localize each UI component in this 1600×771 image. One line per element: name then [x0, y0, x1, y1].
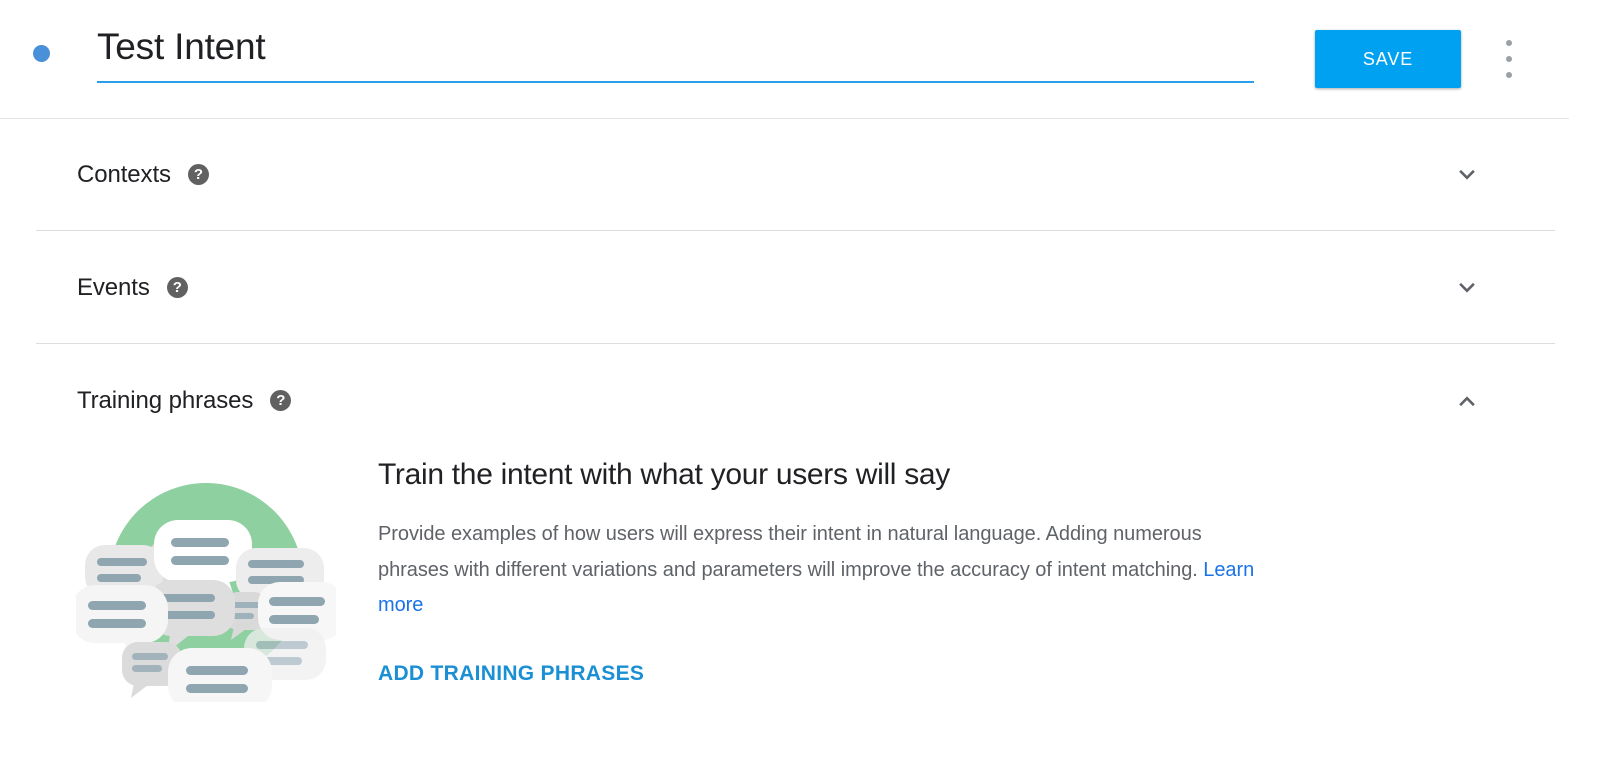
chevron-down-icon[interactable]: [1449, 157, 1485, 193]
more-options-icon[interactable]: [1498, 40, 1520, 78]
kebab-dot-3: [1506, 72, 1512, 78]
section-contexts[interactable]: Contexts ?: [0, 118, 1600, 231]
training-phrases-description: Provide examples of how users will expre…: [378, 517, 1268, 624]
add-training-phrases-button[interactable]: ADD TRAINING PHRASES: [378, 662, 644, 686]
section-training-phrases-header[interactable]: Training phrases ?: [77, 387, 291, 415]
training-phrases-text-block: Train the intent with what your users wi…: [378, 457, 1268, 686]
intent-status-dot: [33, 45, 50, 62]
intent-header: SAVE: [0, 0, 1600, 118]
section-contexts-label: Contexts: [77, 161, 171, 189]
intent-name-input[interactable]: [97, 24, 1254, 81]
section-events-header[interactable]: Events ?: [77, 274, 188, 302]
section-events-label: Events: [77, 274, 150, 302]
section-contexts-header[interactable]: Contexts ?: [77, 161, 209, 189]
help-icon[interactable]: ?: [270, 390, 291, 411]
intent-title-underline: [97, 81, 1254, 83]
help-icon[interactable]: ?: [167, 277, 188, 298]
kebab-dot-2: [1506, 56, 1512, 62]
chevron-up-icon[interactable]: [1449, 383, 1485, 419]
kebab-dot-1: [1506, 40, 1512, 46]
help-icon[interactable]: ?: [188, 164, 209, 185]
save-button[interactable]: SAVE: [1315, 30, 1461, 88]
section-training-phrases-label: Training phrases: [77, 387, 253, 415]
intent-title-field[interactable]: [97, 24, 1254, 83]
section-events[interactable]: Events ?: [0, 231, 1600, 344]
speech-bubbles-illustration: [76, 470, 336, 702]
intent-editor-page: SAVE Contexts ? Events ?: [0, 0, 1600, 771]
description-text: Provide examples of how users will expre…: [378, 523, 1203, 581]
training-phrases-empty-state: Train the intent with what your users wi…: [0, 457, 1600, 771]
chevron-down-icon[interactable]: [1449, 270, 1485, 306]
training-phrases-heading: Train the intent with what your users wi…: [378, 457, 1268, 493]
section-training-phrases[interactable]: Training phrases ?: [0, 344, 1600, 457]
